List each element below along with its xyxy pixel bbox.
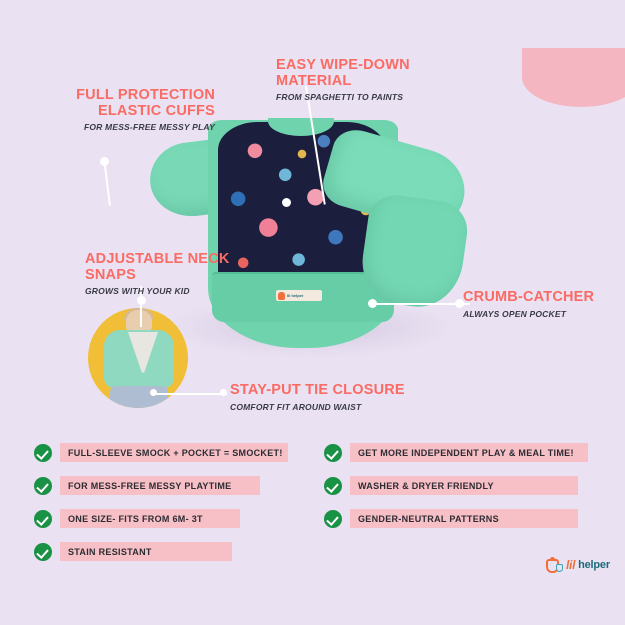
feature-item: GENDER-NEUTRAL PATTERNS (324, 509, 592, 528)
feature-label: FULL-SLEEVE SMOCK + POCKET = SMOCKET! (68, 448, 283, 458)
logo-lil-text: lil (566, 558, 575, 572)
check-circle-icon (34, 444, 52, 462)
connector-dot-cuffs (100, 157, 109, 166)
feature-item: FULL-SLEEVE SMOCK + POCKET = SMOCKET! (34, 443, 302, 462)
connector-line-inset (140, 305, 142, 327)
feature-bar: WASHER & DRYER FRIENDLY (350, 476, 578, 495)
check-circle-icon (34, 510, 52, 528)
product-image-smock: lil helper (150, 112, 465, 362)
connector-line-cuffs (104, 166, 110, 206)
feature-item: GET MORE INDEPENDENT PLAY & MEAL TIME! (324, 443, 592, 462)
brand-tag-text: lil helper (287, 293, 303, 298)
feature-label: ONE SIZE- FITS FROM 6M- 3T (68, 514, 203, 524)
feature-column-left: FULL-SLEEVE SMOCK + POCKET = SMOCKET! FO… (34, 443, 302, 561)
check-circle-icon (324, 477, 342, 495)
callout-title: CRUMB-CATCHER (463, 290, 623, 306)
callout-subtitle: FOR MESS-FREE MESSY PLAY (55, 122, 215, 133)
check-circle-icon (34, 477, 52, 495)
feature-label: GET MORE INDEPENDENT PLAY & MEAL TIME! (358, 448, 574, 458)
check-circle-icon (34, 543, 52, 561)
feature-item: WASHER & DRYER FRIENDLY (324, 476, 592, 495)
feature-checklist: FULL-SLEEVE SMOCK + POCKET = SMOCKET! FO… (34, 443, 594, 561)
callout-easy-wipe-down: EASY WIPE-DOWN MATERIAL FROM SPAGHETTI T… (276, 58, 476, 103)
feature-bar: FOR MESS-FREE MESSY PLAYTIME (60, 476, 260, 495)
infographic-canvas: lil helper EASY WIPE-DOWN MATERIAL FROM … (0, 0, 625, 625)
callout-adjustable-neck-snaps: ADJUSTABLE NECK SNAPS GROWS WITH YOUR KI… (85, 252, 245, 297)
child-tie-closure (132, 372, 146, 382)
bib-neck-icon (550, 557, 555, 561)
logo-helper-text: helper (578, 559, 610, 571)
feature-bar: FULL-SLEEVE SMOCK + POCKET = SMOCKET! (60, 443, 288, 462)
feature-column-right: GET MORE INDEPENDENT PLAY & MEAL TIME! W… (324, 443, 592, 561)
connector-dot-tie-right (220, 389, 227, 396)
callout-crumb-catcher: CRUMB-CATCHER ALWAYS OPEN POCKET (463, 290, 623, 320)
feature-label: GENDER-NEUTRAL PATTERNS (358, 514, 499, 524)
brand-tag-icon (278, 292, 285, 300)
feature-bar: GET MORE INDEPENDENT PLAY & MEAL TIME! (350, 443, 588, 462)
connector-dot-crumb-left (368, 299, 377, 308)
callout-subtitle: FROM SPAGHETTI TO PAINTS (276, 92, 476, 103)
callout-stay-put-tie-closure: STAY-PUT TIE CLOSURE COMFORT FIT AROUND … (230, 383, 410, 413)
feature-item: ONE SIZE- FITS FROM 6M- 3T (34, 509, 302, 528)
feature-label: STAIN RESISTANT (68, 547, 152, 557)
feature-bar: GENDER-NEUTRAL PATTERNS (350, 509, 578, 528)
feature-item: FOR MESS-FREE MESSY PLAYTIME (34, 476, 302, 495)
callout-subtitle: COMFORT FIT AROUND WAIST (230, 402, 410, 413)
callout-subtitle: GROWS WITH YOUR KID (85, 286, 245, 297)
bib-icon (546, 557, 563, 573)
callout-title: EASY WIPE-DOWN MATERIAL (276, 58, 476, 89)
connector-line-tie (155, 393, 227, 395)
check-circle-icon (324, 444, 342, 462)
brand-logo: lil helper (546, 557, 610, 573)
connector-dot-wipe (282, 198, 291, 207)
callout-title: STAY-PUT TIE CLOSURE (230, 383, 410, 399)
feature-label: WASHER & DRYER FRIENDLY (358, 481, 494, 491)
callout-subtitle: ALWAYS OPEN POCKET (463, 309, 623, 320)
decorative-half-circle (522, 48, 625, 107)
check-circle-icon (324, 510, 342, 528)
brand-tag: lil helper (276, 290, 322, 301)
feature-item: STAIN RESISTANT (34, 542, 302, 561)
child-pants (110, 386, 168, 408)
callout-title: FULL PROTECTION ELASTIC CUFFS (55, 88, 215, 119)
callout-title: ADJUSTABLE NECK SNAPS (85, 252, 245, 283)
callout-full-protection-elastic-cuffs: FULL PROTECTION ELASTIC CUFFS FOR MESS-F… (55, 88, 215, 133)
connector-dot-tie-left (150, 389, 157, 396)
feature-bar: ONE SIZE- FITS FROM 6M- 3T (60, 509, 240, 528)
bib-accent-icon (556, 564, 563, 572)
feature-bar: STAIN RESISTANT (60, 542, 232, 561)
feature-label: FOR MESS-FREE MESSY PLAYTIME (68, 481, 231, 491)
